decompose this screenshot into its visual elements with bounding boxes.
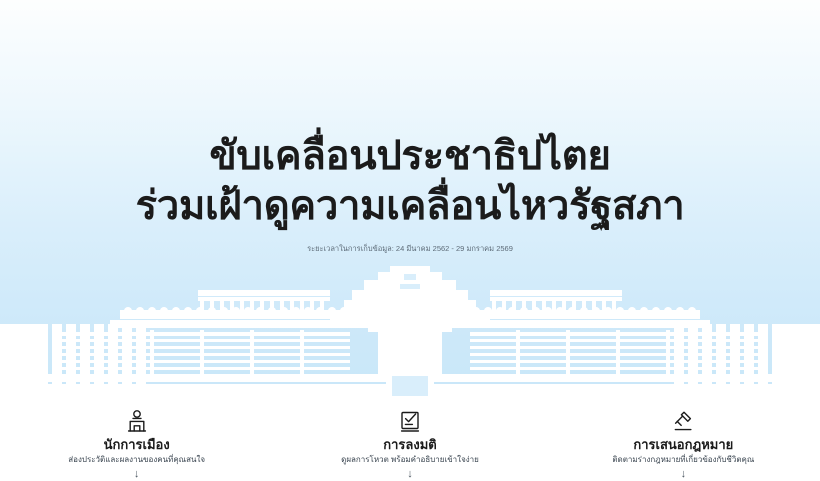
scroll-down-arrow-icon[interactable]: ↓: [273, 467, 546, 481]
scroll-down-arrow-icon[interactable]: ↓: [0, 467, 273, 481]
feature-description: ติดตามร่างกฎหมายที่เกี่ยวข้องกับชีวิตคุณ: [547, 453, 820, 466]
scroll-down-arrow-icon[interactable]: ↓: [547, 467, 820, 481]
feature-description: ส่องประวัติและผลงานของคนที่คุณสนใจ: [0, 453, 273, 466]
landing-page: ขับเคลื่อนประชาธิปไตย ร่วมเฝ้าดูความเคลื…: [0, 0, 820, 481]
feature-title: การลงมติ: [273, 436, 546, 453]
hero-section: ขับเคลื่อนประชาธิปไตย ร่วมเฝ้าดูความเคลื…: [0, 0, 820, 396]
headline-line-1: ขับเคลื่อนประชาธิปไตย: [0, 131, 820, 181]
gavel-law-icon: [547, 409, 820, 433]
parliament-building-illustration: [0, 266, 820, 396]
feature-card-politicians[interactable]: นักการเมือง ส่องประวัติและผลงานของคนที่ค…: [0, 396, 273, 481]
feature-card-votes[interactable]: การลงมติ ดูผลการโหวต พร้อมคำอธิบายเข้าใจ…: [273, 396, 546, 481]
headline-line-2: ร่วมเฝ้าดูความเคลื่อนไหวรัฐสภา: [0, 181, 820, 231]
feature-description: ดูผลการโหวต พร้อมคำอธิบายเข้าใจง่าย: [273, 453, 546, 466]
feature-card-proposed-laws[interactable]: การเสนอกฎหมาย ติดตามร่างกฎหมายที่เกี่ยวข…: [547, 396, 820, 481]
politician-icon: [0, 409, 273, 433]
data-collection-period-subtitle: ระยะเวลาในการเก็บข้อมูล: 24 มีนาคม 2562 …: [0, 243, 820, 254]
page-title: ขับเคลื่อนประชาธิปไตย ร่วมเฝ้าดูความเคลื…: [0, 131, 820, 231]
ballot-vote-icon: [273, 409, 546, 433]
feature-title: นักการเมือง: [0, 436, 273, 453]
feature-cards-row: นักการเมือง ส่องประวัติและผลงานของคนที่ค…: [0, 396, 820, 481]
feature-title: การเสนอกฎหมาย: [547, 436, 820, 453]
